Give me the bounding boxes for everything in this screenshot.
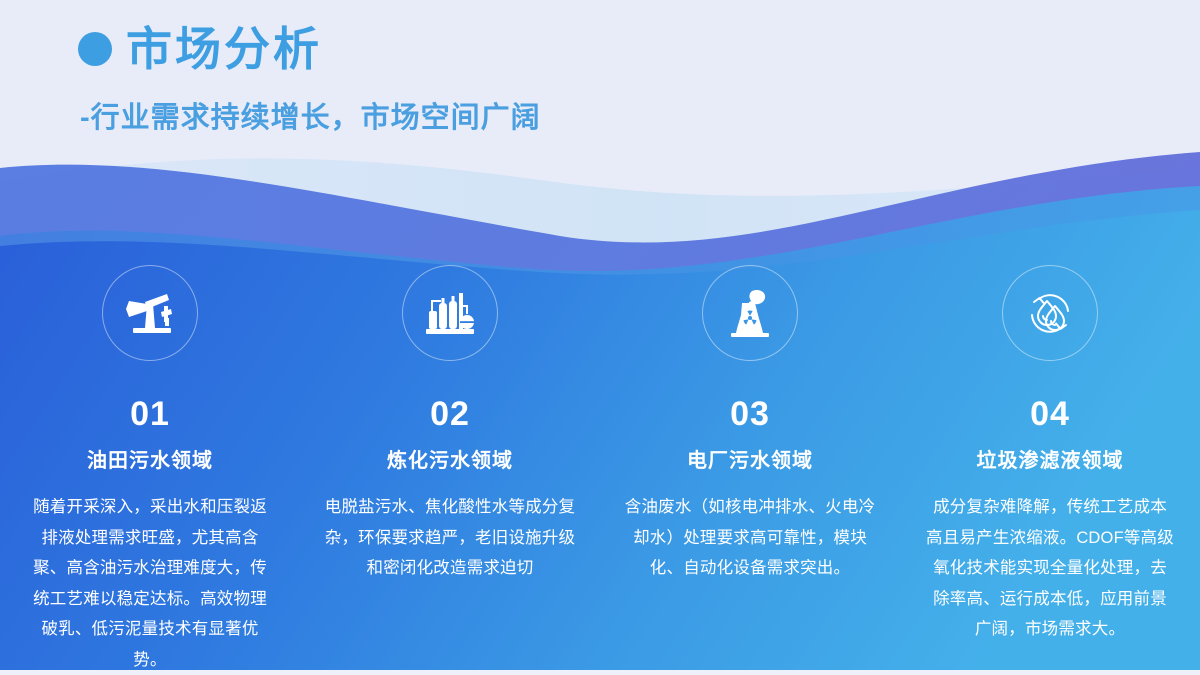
feature-number-2: 02 <box>430 397 470 431</box>
bottom-edge-strip <box>0 670 1200 675</box>
icon-circle-3 <box>702 265 798 361</box>
feature-columns: 01 油田污水领域 随着开采深入，采出水和压裂返排液处理需求旺盛，尤其高含聚、高… <box>0 265 1200 675</box>
icon-circle-2 <box>402 265 498 361</box>
feature-caption-3: 电厂污水领域 <box>687 451 813 471</box>
refinery-plant-icon <box>424 287 476 339</box>
feature-column-3[interactable]: 03 电厂污水领域 含油废水（如核电冲排水、火电冷却水）处理要求高可靠性，模块化… <box>600 265 900 675</box>
feature-caption-2: 炼化污水领域 <box>387 451 513 471</box>
feature-number-1: 01 <box>130 397 170 431</box>
icon-circle-1 <box>102 265 198 361</box>
slide-root: 市场分析 -行业需求持续增长，市场空间广阔 <box>0 0 1200 675</box>
title-row: 市场分析 <box>78 26 541 72</box>
feature-number-3: 03 <box>730 397 770 431</box>
feature-column-4[interactable]: 04 垃圾渗滤液领域 成分复杂难降解，传统工艺成本高且易产生浓缩液。CDOF等高… <box>900 265 1200 675</box>
oil-pumpjack-icon <box>123 288 177 338</box>
feature-body-3: 含油废水（如核电冲排水、火电冷却水）处理要求高可靠性，模块化、自动化设备需求突出… <box>624 492 876 584</box>
page-title: 市场分析 <box>126 26 322 72</box>
slide-header: 市场分析 -行业需求持续增长，市场空间广阔 <box>78 26 541 136</box>
feature-body-2: 电脱盐污水、焦化酸性水等成分复杂，环保要求趋严，老旧设施升级和密闭化改造需求迫切 <box>324 492 576 584</box>
page-subtitle: -行业需求持续增长，市场空间广阔 <box>80 94 541 136</box>
feature-caption-1: 油田污水领域 <box>87 451 213 471</box>
water-recycle-droplet-icon <box>1023 286 1077 340</box>
feature-body-1: 随着开采深入，采出水和压裂返排液处理需求旺盛，尤其高含聚、高含油污水治理难度大，… <box>26 492 274 675</box>
filled-circle-bullet-icon <box>78 32 112 66</box>
feature-column-2[interactable]: 02 炼化污水领域 电脱盐污水、焦化酸性水等成分复杂，环保要求趋严，老旧设施升级… <box>300 265 600 675</box>
feature-column-1[interactable]: 01 油田污水领域 随着开采深入，采出水和压裂返排液处理需求旺盛，尤其高含聚、高… <box>0 265 300 675</box>
feature-number-4: 04 <box>1030 397 1070 431</box>
feature-body-4: 成分复杂难降解，传统工艺成本高且易产生浓缩液。CDOF等高级氧化技术能实现全量化… <box>925 492 1175 645</box>
icon-circle-4 <box>1002 265 1098 361</box>
nuclear-cooling-tower-icon <box>725 287 775 339</box>
feature-caption-4: 垃圾渗滤液领域 <box>977 451 1124 471</box>
